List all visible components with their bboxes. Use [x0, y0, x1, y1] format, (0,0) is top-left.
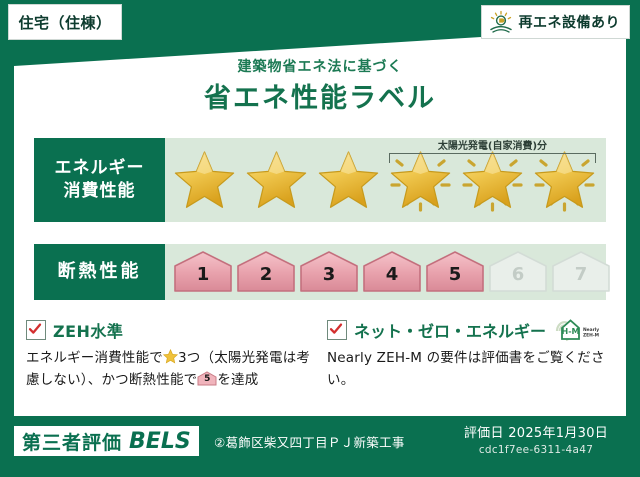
- star-solar: [529, 138, 600, 222]
- project-name: ②葛飾区柴又四丁目ＰＪ新築工事: [214, 432, 405, 451]
- zeh-m-logo-icon: H-M Nearly ZEH-M: [555, 317, 599, 343]
- insulation-level-number: 6: [488, 264, 548, 285]
- star-solar: [385, 138, 456, 222]
- insulation-level-active: 1: [173, 250, 233, 294]
- insulation-level-number: 4: [362, 264, 422, 285]
- insulation-level-number: 2: [236, 264, 296, 285]
- svg-text:H-M: H-M: [562, 327, 580, 336]
- insulation-level-number: 3: [299, 264, 359, 285]
- insulation-scale: 1 2 3: [165, 244, 606, 300]
- insulation-performance-row: 断熱性能 1 2: [34, 244, 606, 300]
- check-icon: [28, 322, 42, 336]
- claim-nze-title: ネット・ゼロ・エネルギー: [354, 318, 546, 342]
- inline-house-value: 5: [197, 372, 217, 387]
- insulation-level-active: 3: [299, 250, 359, 294]
- star-filled: [241, 138, 312, 222]
- claim-zeh-title: ZEH水準: [53, 318, 123, 342]
- insulation-level-active: 5: [425, 250, 485, 294]
- evaluation-uid: cdc1f7ee-6311-4a47: [446, 444, 626, 456]
- claim-zeh-body: エネルギー消費性能で3つ（太陽光発電は考慮しない）、かつ断熱性能で5を達成: [26, 348, 313, 392]
- claim-nze-body: Nearly ZEH-M の要件は評価書をご覧ください。: [327, 348, 614, 392]
- insulation-level-active: 2: [236, 250, 296, 294]
- energy-label-line2: 消費性能: [64, 180, 136, 203]
- claim-nze-header: ネット・ゼロ・エネルギー H-M Nearly ZEH-M: [327, 318, 614, 342]
- claim-zeh-header: ZEH水準: [26, 318, 313, 342]
- inline-house-icon: 5: [197, 371, 217, 386]
- sun-solar-icon: [488, 10, 514, 34]
- claim-zeh-standard: ZEH水準 エネルギー消費性能で3つ（太陽光発電は考慮しない）、かつ断熱性能で5…: [26, 318, 313, 392]
- star-rating: [165, 138, 606, 222]
- insulation-level-active: 4: [362, 250, 422, 294]
- energy-performance-label: 住宅（住棟） 再エネ設備あり 建築物省エネ法に基づく 省エネ性能ラベル エネルギ…: [0, 0, 640, 477]
- claims-section: ZEH水準 エネルギー消費性能で3つ（太陽光発電は考慮しない）、かつ断熱性能で5…: [26, 318, 614, 392]
- energy-performance-row: エネルギー 消費性能: [34, 138, 606, 222]
- insulation-label: 断熱性能: [58, 260, 142, 284]
- label-title: 省エネ性能ラベル: [0, 76, 640, 115]
- evaluation-date: 評価日 2025年1月30日: [446, 422, 626, 441]
- label-subtitle: 建築物省エネ法に基づく: [0, 56, 640, 76]
- document-type-tag: 住宅（住棟）: [8, 4, 122, 40]
- claim-zeh-text-post: を達成: [217, 372, 258, 388]
- bels-jp-label: 第三者評価: [22, 428, 122, 455]
- svg-text:Nearly: Nearly: [583, 327, 599, 333]
- insulation-level-number: 7: [551, 264, 611, 285]
- bels-en-label: BELS: [129, 429, 191, 454]
- energy-performance-value: 太陽光発電(自家消費)分: [165, 138, 606, 222]
- inline-star-icon: [163, 349, 178, 364]
- star-solar: [457, 138, 528, 222]
- renewable-badge-label: 再エネ設備あり: [519, 12, 621, 32]
- claim-net-zero-energy: ネット・ゼロ・エネルギー H-M Nearly ZEH-M Nearly ZEH…: [327, 318, 614, 392]
- energy-label-line1: エネルギー: [55, 157, 145, 180]
- insulation-level-inactive: 6: [488, 250, 548, 294]
- claim-zeh-text-pre: エネルギー消費性能で: [26, 350, 163, 366]
- star-filled: [313, 138, 384, 222]
- zeh-checkbox: [26, 320, 46, 340]
- evaluation-meta: 評価日 2025年1月30日 cdc1f7ee-6311-4a47: [446, 422, 626, 456]
- nze-checkbox: [327, 320, 347, 340]
- label-footer: 第三者評価 BELS ②葛飾区柴又四丁目ＰＪ新築工事 評価日 2025年1月30…: [0, 416, 640, 477]
- svg-text:ZEH-M: ZEH-M: [583, 333, 599, 339]
- bels-badge: 第三者評価 BELS: [14, 426, 199, 456]
- insulation-performance-value: 1 2 3: [165, 244, 606, 300]
- energy-performance-key: エネルギー 消費性能: [34, 138, 165, 222]
- insulation-level-number: 5: [425, 264, 485, 285]
- insulation-level-inactive: 7: [551, 250, 611, 294]
- check-icon: [329, 322, 343, 336]
- insulation-performance-key: 断熱性能: [34, 244, 165, 300]
- renewable-equipment-badge: 再エネ設備あり: [481, 5, 631, 39]
- document-type-label: 住宅（住棟）: [18, 12, 111, 33]
- insulation-level-number: 1: [173, 264, 233, 285]
- star-filled: [169, 138, 240, 222]
